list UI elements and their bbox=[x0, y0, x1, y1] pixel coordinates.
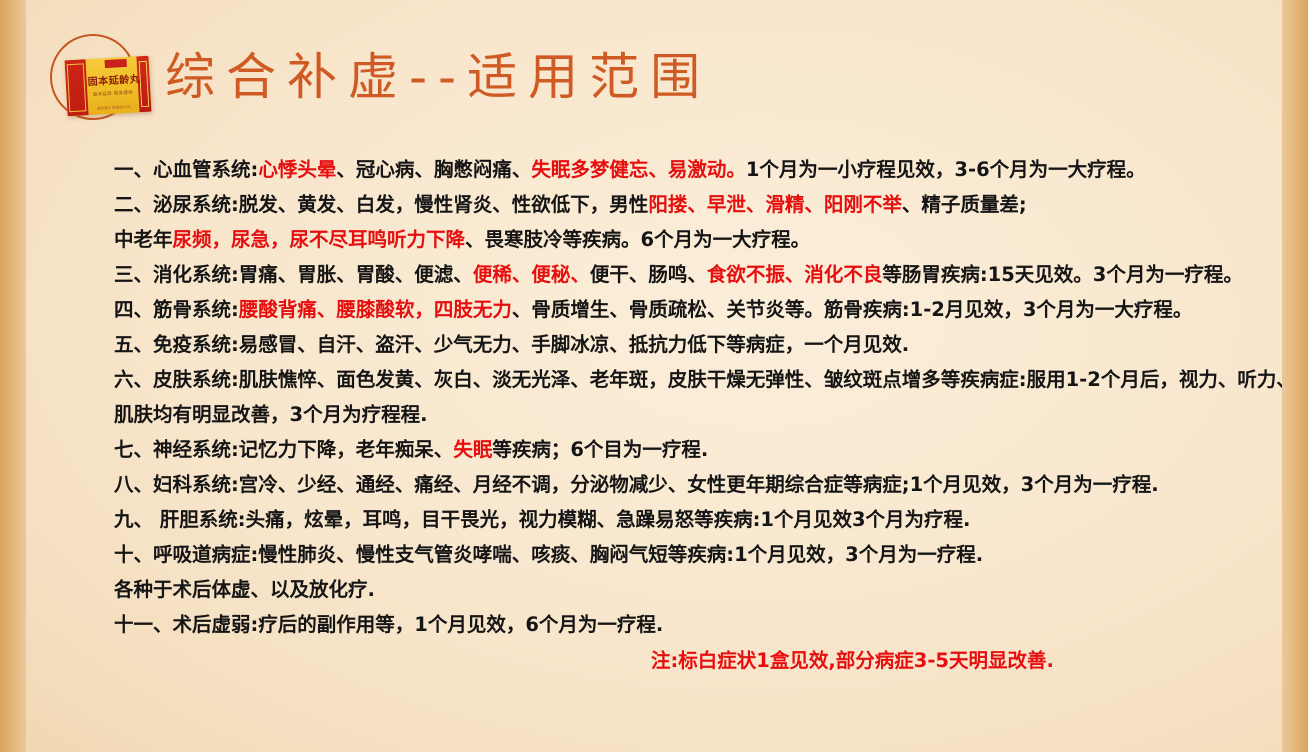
content-line: 各种于术后体虚、以及放化疗. bbox=[114, 572, 1299, 607]
product-box-left-panel bbox=[65, 59, 89, 116]
plain-text: 二、泌尿系统:脱发、黄发、白发，慢性肾炎、性欲低下，男性 bbox=[114, 193, 648, 216]
highlighted-text: 阳搂、早泄、滑精、阳刚不举 bbox=[648, 193, 902, 216]
content-line: 五、免疫系统:易感冒、自汗、盗汗、少气无力、手脚冰凉、抵抗力低下等病症，一个月见… bbox=[114, 327, 1299, 362]
plain-text: 、骨质增生、骨质疏松、关节炎等。筋骨疾病:1-2月见效，3个月为一大疗程。 bbox=[512, 298, 1193, 321]
footnote: 注:标白症状1盒见效,部分病症3-5天明显改善. bbox=[651, 644, 1054, 673]
highlighted-text: 失眠 bbox=[453, 438, 492, 461]
slide-header: 固本延龄丸 固本延龄 强身健体 国药准字 每盒装10丸 综合补虚--适用范围 bbox=[0, 24, 1308, 144]
content-line: 十一、术后虚弱:疗后的副作用等，1个月见效，6个月为一疗程. bbox=[114, 607, 1299, 642]
plain-text: 十一、术后虚弱:疗后的副作用等，1个月见效，6个月为一疗程. bbox=[114, 613, 663, 636]
plain-text: 八、妇科系统:宫冷、少经、通经、痛经、月经不调，分泌物减少、女性更年期综合症等病… bbox=[114, 473, 1159, 496]
content-line: 七、神经系统:记忆力下降，老年痴呆、失眠等疾病；6个目为一疗程. bbox=[114, 432, 1299, 467]
plain-text: 1个月为一小疗程见效，3-6个月为一大疗程。 bbox=[746, 158, 1146, 181]
plain-text: 三、消化系统:胃痛、胃胀、胃酸、便滤、 bbox=[114, 263, 473, 286]
highlighted-text: 尿频，尿急，尿不尽耳鸣听力下降 bbox=[173, 228, 466, 251]
slide-root: 固本延龄丸 固本延龄 强身健体 国药准字 每盒装10丸 综合补虚--适用范围 一… bbox=[0, 0, 1308, 752]
page-title: 综合补虚--适用范围 bbox=[165, 50, 711, 105]
content-line: 六、皮肤系统:肌肤憔悴、面色发黄、灰白、淡无光泽、老年斑，皮肤干燥无弹性、皱纹斑… bbox=[114, 362, 1299, 432]
plain-text: 便干、肠鸣、 bbox=[590, 263, 707, 286]
content-line: 一、心血管系统:心悸头晕、冠心病、胸憋闷痛、失眠多梦健忘、易激动。1个月为一小疗… bbox=[114, 152, 1299, 187]
plain-text: 、精子质量差; bbox=[902, 193, 1027, 216]
content-line: 四、筋骨系统:腰酸背痛、腰膝酸软，四肢无力、骨质增生、骨质疏松、关节炎等。筋骨疾… bbox=[114, 292, 1299, 327]
plain-text: 四、筋骨系统: bbox=[114, 298, 239, 321]
highlighted-text: 便稀、便秘、 bbox=[473, 263, 590, 286]
plain-text: 六、皮肤系统:肌肤憔悴、面色发黄、灰白、淡无光泽、老年斑，皮肤干燥无弹性、皱纹斑… bbox=[114, 368, 1296, 426]
content-line: 八、妇科系统:宫冷、少经、通经、痛经、月经不调，分泌物减少、女性更年期综合症等病… bbox=[114, 467, 1299, 502]
highlighted-text: 食欲不振、消化不良 bbox=[707, 263, 883, 286]
plain-text: 五、免疫系统:易感冒、自汗、盗汗、少气无力、手脚冰凉、抵抗力低下等病症，一个月见… bbox=[114, 333, 909, 356]
plain-text: 、畏寒肢冷等疾病。6个月为一大疗程。 bbox=[465, 228, 810, 251]
highlighted-text: 失眠多梦健忘、易激动。 bbox=[531, 158, 746, 181]
content-lines: 一、心血管系统:心悸头晕、冠心病、胸憋闷痛、失眠多梦健忘、易激动。1个月为一小疗… bbox=[114, 152, 1299, 642]
plain-text: 、冠心病、胸憋闷痛、 bbox=[336, 158, 531, 181]
product-box-top-tab bbox=[105, 59, 127, 68]
content-line: 九、 肝胆系统:头痛，炫晕，耳鸣，目干畏光，视力模糊、急躁易怒等疾病:1个月见效… bbox=[114, 502, 1299, 537]
content-line: 十、呼吸道病症:慢性肺炎、慢性支气管炎哮喘、咳痰、胸闷气短等疾病:1个月见效，3… bbox=[114, 537, 1299, 572]
content-line: 二、泌尿系统:脱发、黄发、白发，慢性肾炎、性欲低下，男性阳搂、早泄、滑精、阳刚不… bbox=[114, 187, 1299, 222]
product-logo: 固本延龄丸 固本延龄 强身健体 国药准字 每盒装10丸 bbox=[42, 30, 162, 142]
plain-text: 七、神经系统:记忆力下降，老年痴呆、 bbox=[114, 438, 453, 461]
plain-text: 等肠胃疾病:15天见效。3个月为一疗程。 bbox=[882, 263, 1243, 286]
highlighted-text: 心悸头晕 bbox=[258, 158, 336, 181]
plain-text: 中老年 bbox=[114, 228, 173, 251]
content-line: 三、消化系统:胃痛、胃胀、胃酸、便滤、便稀、便秘、便干、肠鸣、食欲不振、消化不良… bbox=[114, 257, 1299, 292]
plain-text: 一、心血管系统: bbox=[114, 158, 258, 181]
plain-text: 十、呼吸道病症:慢性肺炎、慢性支气管炎哮喘、咳痰、胸闷气短等疾病:1个月见效，3… bbox=[114, 543, 983, 566]
highlighted-text: 腰酸背痛、腰膝酸软，四肢无力 bbox=[239, 298, 512, 321]
plain-text: 等疾病；6个目为一疗程. bbox=[492, 438, 708, 461]
product-box-left-frame bbox=[67, 63, 87, 112]
plain-text: 各种于术后体虚、以及放化疗. bbox=[114, 578, 375, 601]
plain-text: 九、 肝胆系统:头痛，炫晕，耳鸣，目干畏光，视力模糊、急躁易怒等疾病:1个月见效… bbox=[114, 508, 970, 531]
product-box-image: 固本延龄丸 固本延龄 强身健体 国药准字 每盒装10丸 bbox=[65, 56, 152, 117]
content-line: 中老年尿频，尿急，尿不尽耳鸣听力下降、畏寒肢冷等疾病。6个月为一大疗程。 bbox=[114, 222, 1299, 257]
